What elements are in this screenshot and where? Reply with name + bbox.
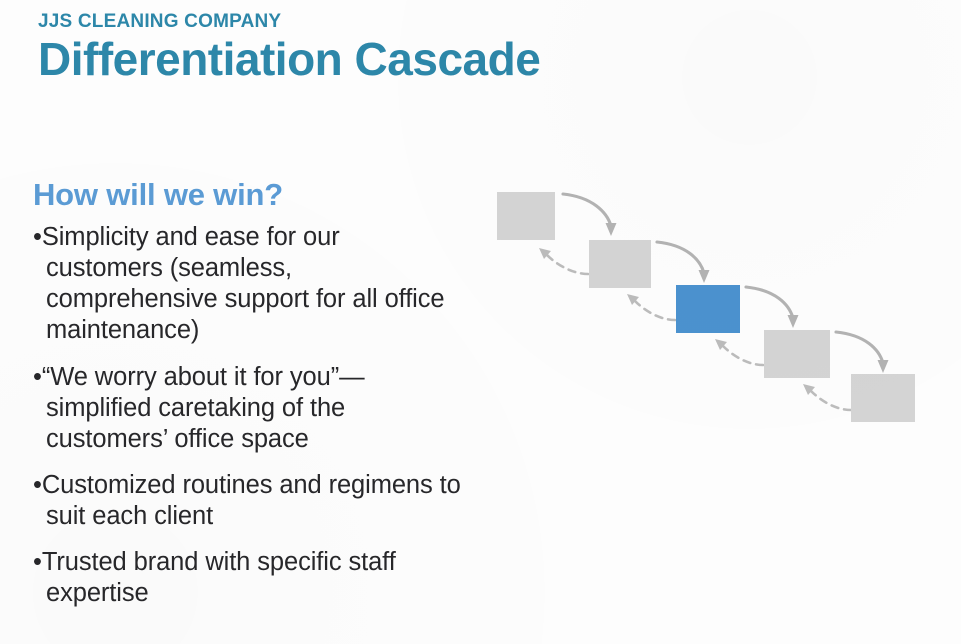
list-item-text: Simplicity and ease for our customers (s… [42,223,445,344]
cascade-step-box-1[interactable] [497,192,555,240]
forward-arrow-2-icon [657,242,710,283]
bullet-marker-icon: • [33,471,42,499]
differentiation-cascade-diagram [470,160,950,460]
backward-arrow-1-icon [539,248,588,274]
slide-canvas: JJS CLEANING COMPANY Differentiation Cas… [0,0,961,644]
section-subheading: How will we win? [33,178,463,212]
cascade-step-box-2[interactable] [589,240,651,288]
forward-arrow-3-icon [746,287,799,328]
forward-arrow-4-icon [836,332,889,373]
bullet-marker-icon: • [33,363,42,391]
content-column: How will we win? •Simplicity and ease fo… [33,178,463,609]
backward-arrow-3-icon [715,339,763,365]
list-item: •“We worry about it for you”—simplified … [33,362,463,455]
company-eyebrow-text: JJS CLEANING COMPANY [38,12,658,33]
bullet-marker-icon: • [33,223,42,251]
list-item-text: “We worry about it for you”—simplified c… [42,363,365,453]
bullet-marker-icon: • [33,548,42,576]
list-item: •Customized routines and regimens to sui… [33,470,463,532]
cascade-step-box-5[interactable] [851,374,915,422]
bullet-list: •Simplicity and ease for our customers (… [33,222,463,609]
backward-arrow-4-icon [803,384,851,410]
slide-header: JJS CLEANING COMPANY Differentiation Cas… [38,12,658,83]
list-item: •Simplicity and ease for our customers (… [33,222,463,346]
cascade-step-box-3-active[interactable] [676,285,740,333]
page-title: Differentiation Cascade [38,35,658,83]
forward-arrow-1-icon [563,194,617,236]
backward-arrow-2-icon [627,294,675,320]
list-item: •Trusted brand with specific staff exper… [33,547,463,609]
list-item-text: Trusted brand with specific staff expert… [42,548,396,607]
list-item-text: Customized routines and regimens to suit… [42,471,461,530]
cascade-step-box-4[interactable] [764,330,830,378]
